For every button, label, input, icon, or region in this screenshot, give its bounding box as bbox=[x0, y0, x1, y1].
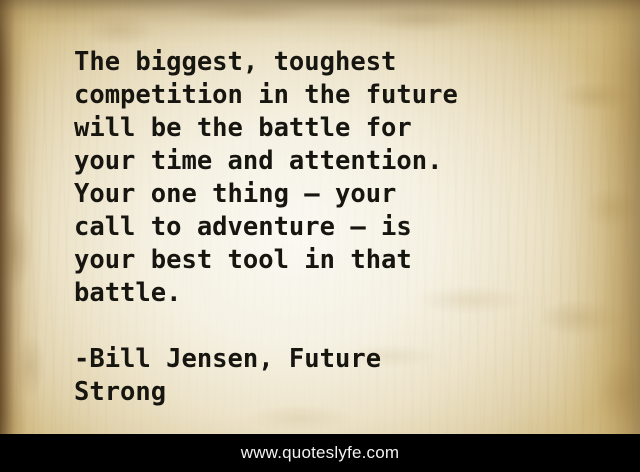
site-url-label: www.quoteslyfe.com bbox=[241, 443, 400, 463]
quote-card: The biggest, toughest competition in the… bbox=[0, 0, 640, 472]
footer-bar: www.quoteslyfe.com bbox=[0, 434, 640, 472]
quote-text: The biggest, toughest competition in the… bbox=[74, 46, 612, 310]
quote-body: The biggest, toughest competition in the… bbox=[74, 46, 612, 409]
quote-attribution: -Bill Jensen, Future Strong bbox=[74, 343, 612, 409]
